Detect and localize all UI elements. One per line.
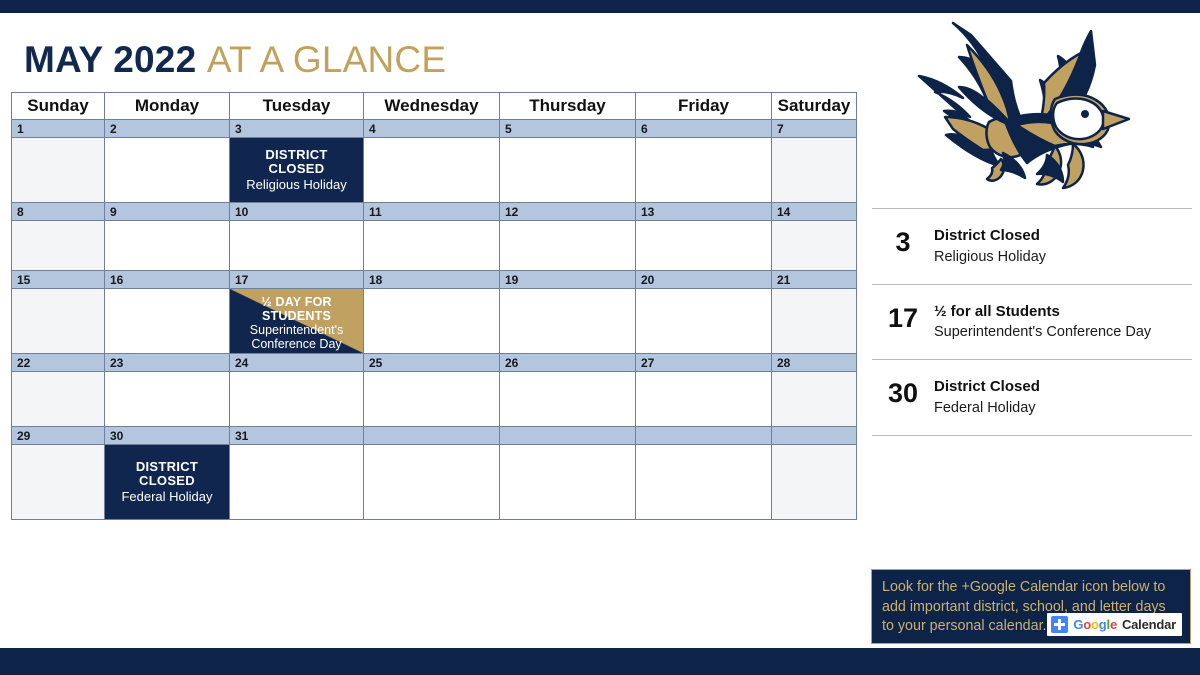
slide-content: MAY 2022 AT A GLANCE xyxy=(0,13,1200,648)
date-number: 1 xyxy=(12,120,105,138)
day-cell[interactable] xyxy=(230,445,364,520)
date-number: 8 xyxy=(12,203,105,221)
day-cell[interactable] xyxy=(105,372,230,427)
day-cell[interactable] xyxy=(12,289,105,354)
day-cell[interactable] xyxy=(12,372,105,427)
date-band-row: 8 9 10 11 12 13 14 xyxy=(12,203,857,221)
day-cell[interactable] xyxy=(772,372,857,427)
date-number: 23 xyxy=(105,354,230,372)
event-half-day-students[interactable]: ½ DAY FOR STUDENTS Superintendent's Conf… xyxy=(230,289,363,353)
week-body-row: DISTRICT CLOSED Federal Holiday xyxy=(12,445,857,520)
date-number: 17 xyxy=(230,271,364,289)
google-letter-o1: o xyxy=(1083,617,1091,632)
day-cell[interactable] xyxy=(636,138,772,203)
day-cell[interactable] xyxy=(364,289,500,354)
date-band-row: 22 23 24 25 26 27 28 xyxy=(12,354,857,372)
event-district-closed[interactable]: DISTRICT CLOSED Federal Holiday xyxy=(105,445,229,519)
event-subtitle: Religious Holiday xyxy=(934,248,1192,267)
day-cell[interactable] xyxy=(500,138,636,203)
date-number: 20 xyxy=(636,271,772,289)
event-line-2: CLOSED xyxy=(139,474,195,489)
day-cell[interactable] xyxy=(500,289,636,354)
month-calendar: Sunday Monday Tuesday Wednesday Thursday… xyxy=(11,92,857,520)
google-wordmark: Google xyxy=(1073,617,1117,632)
day-cell[interactable] xyxy=(230,221,364,271)
event-title: ½ for all Students xyxy=(934,303,1192,322)
day-cell[interactable] xyxy=(364,221,500,271)
day-cell[interactable] xyxy=(230,372,364,427)
date-number: 28 xyxy=(772,354,857,372)
event-district-closed[interactable]: DISTRICT CLOSED Religious Holiday xyxy=(230,138,363,202)
list-item[interactable]: 3 District Closed Religious Holiday xyxy=(872,209,1192,284)
date-band-row: 15 16 17 18 19 20 21 xyxy=(12,271,857,289)
date-number: 24 xyxy=(230,354,364,372)
weekday-header-wednesday: Wednesday xyxy=(364,93,500,120)
event-line-3: Religious Holiday xyxy=(246,178,346,193)
date-number: 6 xyxy=(636,120,772,138)
event-line-1: DISTRICT xyxy=(136,460,198,475)
google-letter-e: e xyxy=(1110,617,1117,632)
day-cell[interactable] xyxy=(500,445,636,520)
date-number: 12 xyxy=(500,203,636,221)
date-number: 21 xyxy=(772,271,857,289)
date-number: 7 xyxy=(772,120,857,138)
event-subtitle: Superintendent's Conference Day xyxy=(934,323,1192,342)
title-month-year: MAY 2022 xyxy=(24,39,196,80)
day-cell-event[interactable]: ½ DAY FOR STUDENTS Superintendent's Conf… xyxy=(230,289,364,354)
date-number: 18 xyxy=(364,271,500,289)
event-line-4: Conference Day xyxy=(230,337,363,351)
date-number-empty xyxy=(636,427,772,445)
calendar-wordmark: Calendar xyxy=(1122,617,1176,632)
day-cell[interactable] xyxy=(772,289,857,354)
event-line-1: DISTRICT xyxy=(265,148,327,163)
day-cell-event[interactable]: DISTRICT CLOSED Federal Holiday xyxy=(105,445,230,520)
callout-line-1: Look for the +Google Calendar icon below… xyxy=(882,578,1180,598)
day-cell[interactable] xyxy=(105,289,230,354)
weekday-header-friday: Friday xyxy=(636,93,772,120)
google-letter-o2: o xyxy=(1091,617,1099,632)
event-list: 3 District Closed Religious Holiday 17 ½… xyxy=(872,208,1192,436)
top-navy-bar xyxy=(0,0,1200,13)
weekday-header-monday: Monday xyxy=(105,93,230,120)
google-calendar-callout: Look for the +Google Calendar icon below… xyxy=(871,569,1191,644)
day-cell[interactable] xyxy=(364,138,500,203)
day-cell[interactable] xyxy=(636,372,772,427)
date-number-empty xyxy=(364,427,500,445)
list-item[interactable]: 30 District Closed Federal Holiday xyxy=(872,360,1192,435)
plus-icon xyxy=(1051,616,1068,633)
date-number: 19 xyxy=(500,271,636,289)
weekday-header-row: Sunday Monday Tuesday Wednesday Thursday… xyxy=(12,93,857,120)
day-cell-event[interactable]: DISTRICT CLOSED Religious Holiday xyxy=(230,138,364,203)
date-number: 16 xyxy=(105,271,230,289)
date-number: 9 xyxy=(105,203,230,221)
week-body-row: ½ DAY FOR STUDENTS Superintendent's Conf… xyxy=(12,289,857,354)
eagle-mascot-icon xyxy=(905,13,1130,198)
week-body-row xyxy=(12,221,857,271)
day-cell[interactable] xyxy=(105,138,230,203)
day-cell[interactable] xyxy=(12,138,105,203)
date-number: 10 xyxy=(230,203,364,221)
event-day-number: 30 xyxy=(872,378,934,407)
day-cell[interactable] xyxy=(12,445,105,520)
event-line-1: ½ DAY FOR xyxy=(230,295,363,309)
event-title: District Closed xyxy=(934,227,1192,246)
date-number: 22 xyxy=(12,354,105,372)
date-number: 2 xyxy=(105,120,230,138)
event-line-2: STUDENTS xyxy=(230,309,363,323)
event-line-3: Federal Holiday xyxy=(121,490,212,505)
event-line-2: CLOSED xyxy=(269,162,325,177)
google-letter-g1: G xyxy=(1073,617,1083,632)
google-calendar-button[interactable]: Google Calendar xyxy=(1047,613,1182,636)
date-number: 25 xyxy=(364,354,500,372)
date-number: 29 xyxy=(12,427,105,445)
page-title: MAY 2022 AT A GLANCE xyxy=(24,39,446,81)
day-cell[interactable] xyxy=(12,221,105,271)
google-letter-g2: g xyxy=(1099,617,1107,632)
day-cell[interactable] xyxy=(364,372,500,427)
date-number-empty xyxy=(500,427,636,445)
date-number: 4 xyxy=(364,120,500,138)
date-number: 30 xyxy=(105,427,230,445)
list-item[interactable]: 17 ½ for all Students Superintendent's C… xyxy=(872,285,1192,360)
day-cell[interactable] xyxy=(772,138,857,203)
week-body-row xyxy=(12,372,857,427)
event-title: District Closed xyxy=(934,378,1192,397)
date-number: 3 xyxy=(230,120,364,138)
day-cell[interactable] xyxy=(772,445,857,520)
weekday-header-thursday: Thursday xyxy=(500,93,636,120)
bottom-navy-bar xyxy=(0,648,1200,675)
day-cell[interactable] xyxy=(500,372,636,427)
weekday-header-tuesday: Tuesday xyxy=(230,93,364,120)
day-cell[interactable] xyxy=(636,289,772,354)
weekday-header-sunday: Sunday xyxy=(12,93,105,120)
date-number: 14 xyxy=(772,203,857,221)
title-at-a-glance: AT A GLANCE xyxy=(207,39,446,80)
date-band-row: 29 30 31 xyxy=(12,427,857,445)
date-number: 26 xyxy=(500,354,636,372)
day-cell[interactable] xyxy=(105,221,230,271)
day-cell[interactable] xyxy=(772,221,857,271)
date-number: 11 xyxy=(364,203,500,221)
date-band-row: 1 2 3 4 5 6 7 xyxy=(12,120,857,138)
day-cell[interactable] xyxy=(636,221,772,271)
event-line-3: Superintendent's xyxy=(230,323,363,337)
day-cell[interactable] xyxy=(500,221,636,271)
week-body-row: DISTRICT CLOSED Religious Holiday xyxy=(12,138,857,203)
date-number: 27 xyxy=(636,354,772,372)
date-number: 31 xyxy=(230,427,364,445)
weekday-header-saturday: Saturday xyxy=(772,93,857,120)
date-number-empty xyxy=(772,427,857,445)
date-number: 13 xyxy=(636,203,772,221)
date-number: 5 xyxy=(500,120,636,138)
day-cell[interactable] xyxy=(364,445,500,520)
day-cell[interactable] xyxy=(636,445,772,520)
event-day-number: 3 xyxy=(872,227,934,256)
event-subtitle: Federal Holiday xyxy=(934,399,1192,418)
list-divider xyxy=(872,435,1192,436)
date-number: 15 xyxy=(12,271,105,289)
event-day-number: 17 xyxy=(872,303,934,332)
